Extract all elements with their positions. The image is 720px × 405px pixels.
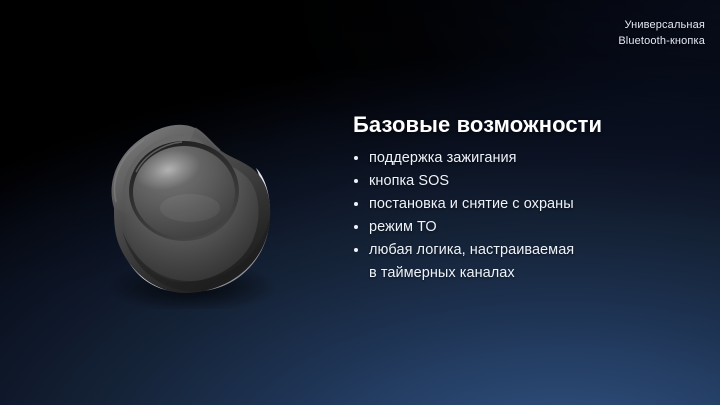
page-title: Базовые возможности bbox=[353, 112, 683, 138]
bullet-dot-icon bbox=[354, 202, 358, 206]
list-item-label-continuation: в таймерных каналах bbox=[369, 262, 683, 285]
list-item: поддержка зажигания bbox=[353, 147, 683, 170]
list-item: кнопка SOS bbox=[353, 170, 683, 193]
features-list: поддержка зажигания кнопка SOS постановк… bbox=[353, 147, 683, 285]
bullet-dot-icon bbox=[354, 156, 358, 160]
list-item-label: постановка и снятие с охраны bbox=[369, 196, 574, 212]
bullet-dot-icon bbox=[354, 248, 358, 252]
device-dome-secondary-highlight bbox=[160, 194, 220, 222]
header-line-2: Bluetooth-кнопка bbox=[618, 33, 705, 49]
list-item-label: кнопка SOS bbox=[369, 173, 449, 189]
list-item-label: любая логика, настраиваемая bbox=[369, 242, 574, 258]
device-illustration bbox=[62, 104, 292, 309]
list-item-label: режим ТО bbox=[369, 219, 437, 235]
slide-root: Универсальная Bluetooth-кнопка bbox=[0, 0, 720, 405]
bullet-dot-icon bbox=[354, 179, 358, 183]
content-block: Базовые возможности поддержка зажигания … bbox=[353, 112, 683, 285]
slide-header: Универсальная Bluetooth-кнопка bbox=[618, 17, 705, 49]
list-item-label: поддержка зажигания bbox=[369, 150, 517, 166]
bullet-dot-icon bbox=[354, 225, 358, 229]
list-item: любая логика, настраиваемая в таймерных … bbox=[353, 239, 683, 285]
list-item: постановка и снятие с охраны bbox=[353, 193, 683, 216]
header-line-1: Универсальная bbox=[618, 17, 705, 33]
bluetooth-button-icon bbox=[62, 104, 292, 309]
list-item: режим ТО bbox=[353, 216, 683, 239]
